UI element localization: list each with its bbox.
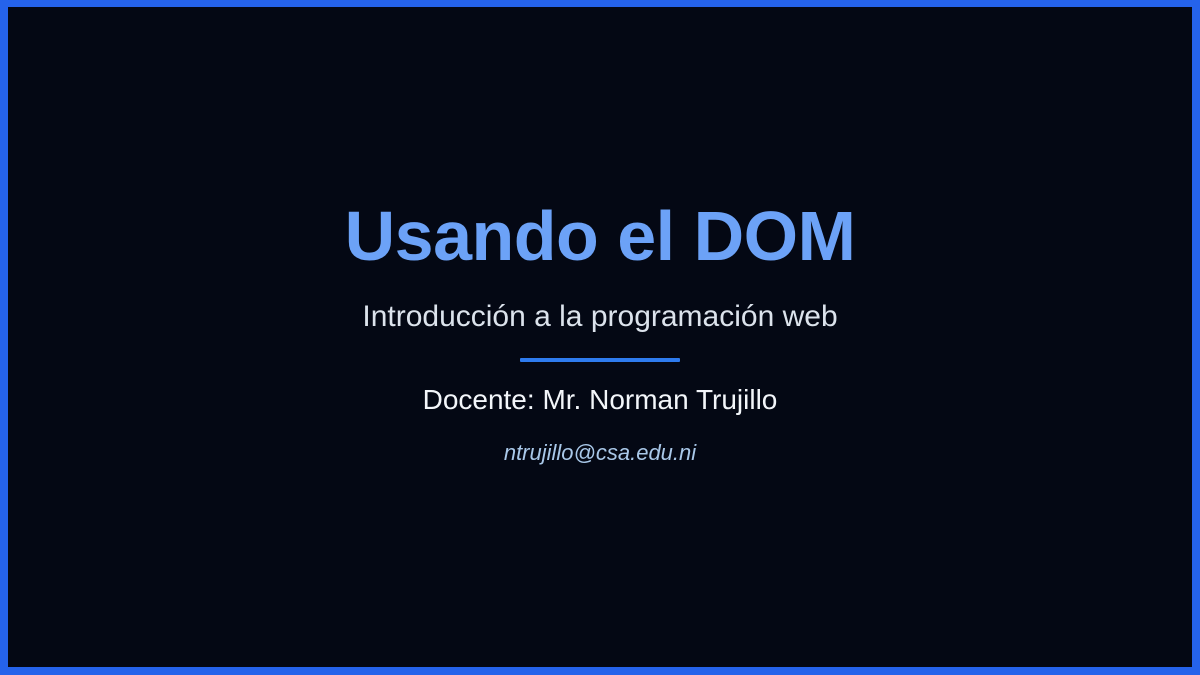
title-block: Usando el DOM Introducción a la programa… xyxy=(8,199,1192,466)
slide-canvas: Usando el DOM Introducción a la programa… xyxy=(8,7,1192,667)
slide-title: Usando el DOM xyxy=(345,199,856,273)
presenter-email: ntrujillo@csa.edu.ni xyxy=(504,440,696,466)
presentation-slide: Usando el DOM Introducción a la programa… xyxy=(0,0,1200,675)
presenter-name: Docente: Mr. Norman Trujillo xyxy=(423,383,778,417)
slide-subtitle: Introducción a la programación web xyxy=(362,299,837,335)
title-divider xyxy=(520,358,680,362)
